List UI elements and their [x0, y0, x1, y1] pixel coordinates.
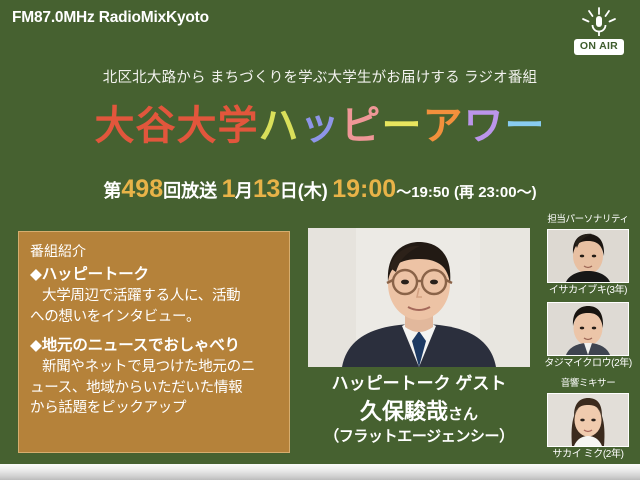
info-section-gap	[30, 328, 281, 335]
title-char-1: 谷	[136, 105, 177, 148]
title-char-7: ー	[382, 105, 423, 148]
broadcast-dateline: 第498回放送 1月13日(木) 19:00〜19:50 (再 23:00〜)	[0, 175, 640, 204]
end-time: 19:50	[411, 184, 449, 201]
microphone-broadcast-icon	[576, 7, 622, 37]
staff-portrait-thumb	[547, 302, 629, 356]
guest-name-suffix: さん	[448, 406, 478, 423]
title-char-0: 大	[95, 105, 136, 148]
info-section-line: ュース、地域からいただいた情報	[30, 378, 281, 399]
title-char-10: ー	[505, 105, 546, 148]
title-char-5: ッ	[300, 105, 341, 148]
program-subtitle: 北区北大路から まちづくりを学ぶ大学生がお届けする ラジオ番組	[0, 66, 640, 87]
staff-name: イサカイブキ(3年)	[540, 284, 636, 298]
title-char-9: ワ	[464, 105, 505, 148]
episode-number: 498	[121, 175, 163, 203]
sidebar-group-heading: 音響ミキサー	[540, 378, 636, 391]
info-section-line: 新聞やネットで見つけた地元のニ	[30, 357, 281, 378]
rebroadcast-time: (再 23:00〜)	[454, 184, 537, 201]
guest-name: 久保駿哉さん	[296, 397, 542, 427]
on-air-logo: ON AIR	[570, 7, 628, 55]
broadcast-graphic: FM87.0MHz RadioMixKyoto ON AIR 北区北大路から ま…	[0, 0, 640, 480]
title-char-6: ピ	[341, 105, 382, 148]
staff-name: サカイ ミク(2年)	[540, 448, 636, 462]
dateline-prefix: 第	[103, 181, 121, 201]
station-name: FM87.0MHz RadioMixKyoto	[12, 9, 209, 27]
title-char-8: ア	[423, 105, 464, 148]
month-number: 1	[222, 175, 235, 203]
day-number: 13	[253, 175, 280, 203]
month-unit: 月	[235, 181, 253, 201]
bottom-bar	[0, 464, 640, 480]
page-title: 大谷大学ハッピーアワー	[0, 105, 640, 148]
info-section-line: 大学周辺で活躍する人に、活動	[30, 286, 281, 307]
day-unit: 日(木)	[280, 181, 328, 201]
time-tilde: 〜	[396, 184, 411, 201]
title-char-2: 大	[177, 105, 218, 148]
on-air-label: ON AIR	[574, 39, 624, 55]
staff-sidebar: 担当パーソナリティイサカイブキ(3年)タジマイクロウ(2年)音響ミキサーサカイ …	[540, 214, 636, 466]
guest-affiliation: （フラットエージェンシー）	[296, 426, 542, 448]
start-time: 19:00	[332, 175, 396, 203]
staff-portrait-thumb	[547, 229, 629, 283]
sidebar-group-heading: 担当パーソナリティ	[540, 214, 636, 227]
info-sections: ◆ハッピートーク大学周辺で活躍する人に、活動への想いをインタビュー。◆地元のニュ…	[30, 264, 281, 419]
info-section-bullet: ◆ハッピートーク	[30, 264, 281, 286]
guest-portrait-photo	[308, 228, 530, 367]
staff-portrait-thumb	[547, 393, 629, 447]
title-char-4: ハ	[259, 105, 300, 148]
dateline-mid: 回放送	[163, 181, 217, 201]
guest-role-label: ハッピートーク ゲスト	[296, 371, 542, 397]
info-section-bullet: ◆地元のニュースでおしゃべり	[30, 335, 281, 357]
info-section-line: への想いをインタビュー。	[30, 307, 281, 328]
title-char-3: 学	[218, 105, 259, 148]
program-info-panel: 番組紹介 ◆ハッピートーク大学周辺で活躍する人に、活動への想いをインタビュー。◆…	[18, 231, 290, 453]
guest-name-text: 久保駿哉	[360, 399, 448, 424]
info-section-line: から話題をピックアップ	[30, 398, 281, 419]
info-panel-heading: 番組紹介	[30, 241, 281, 262]
guest-caption: ハッピートーク ゲスト 久保駿哉さん （フラットエージェンシー）	[296, 371, 542, 448]
staff-name: タジマイクロウ(2年)	[540, 357, 636, 371]
